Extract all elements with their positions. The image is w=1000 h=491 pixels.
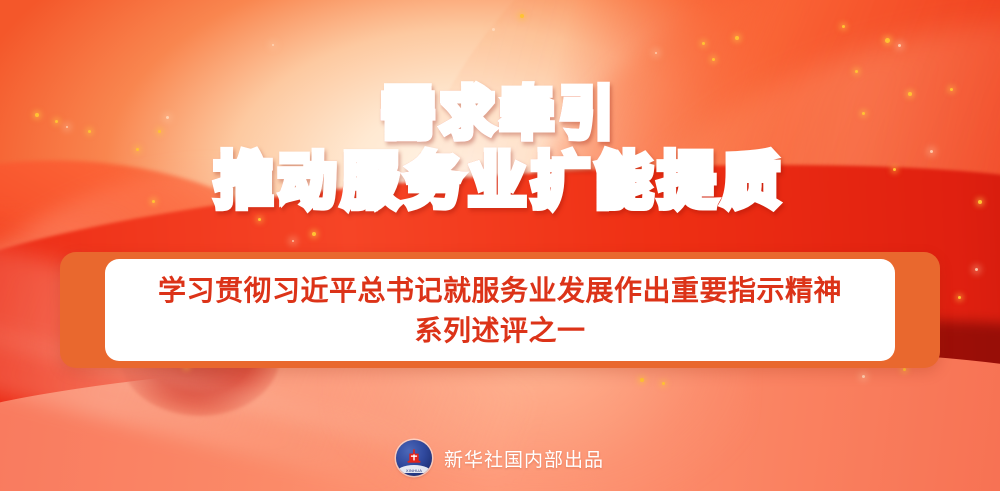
subtitle-panel: 学习贯彻习近平总书记就服务业发展作出重要指示精神 系列述评之一 [105,259,895,361]
footer-credit: XINHUA 新华社国内部出品 [0,440,1000,476]
sparkle-dot [712,58,715,61]
sparkle-dot [842,25,845,28]
xinhua-logo-band-text: XINHUA [396,469,432,473]
subtitle-line-1: 学习贯彻习近平总书记就服务业发展作出重要指示精神 [158,271,842,311]
sparkle-dot [862,375,865,378]
sparkle-dot [292,240,294,242]
sparkle-dot [898,44,901,47]
sparkle-dot [885,38,890,43]
sparkle-dot [735,36,739,40]
sparkle-dot [492,28,495,31]
sparkle-dot [662,382,665,385]
title-line-2: 推动服务业扩能提质 [20,152,980,212]
sparkle-dot [640,378,644,382]
sparkle-dot [903,368,906,371]
sparkle-dot [855,70,858,73]
sparkle-dot [520,14,524,18]
sparkle-dot [975,268,978,271]
poster-title: 需求牵引 推动服务业扩能提质 [0,86,1000,212]
subtitle-line-2: 系列述评之一 [414,311,585,351]
sparkle-dot [702,42,705,45]
sparkle-dot [258,218,261,221]
sparkle-dot [312,232,316,236]
sparkle-dot [272,44,274,46]
xinhua-logo-icon: XINHUA [396,440,432,476]
sparkle-dot [958,296,961,299]
poster-banner: 需求牵引 推动服务业扩能提质 学习贯彻习近平总书记就服务业发展作出重要指示精神 … [0,0,1000,491]
sparkle-dot [655,52,657,54]
title-line-1: 需求牵引 [20,86,980,142]
xinhua-emblem-icon [405,448,422,465]
sparkle-particles [0,0,1000,491]
footer-credit-text: 新华社国内部出品 [444,445,604,472]
